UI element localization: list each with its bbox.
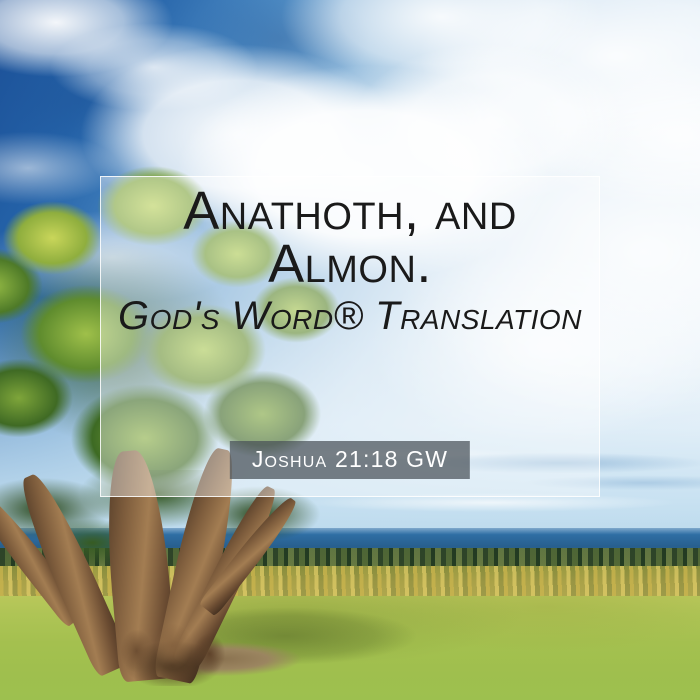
verse-reference-badge: Joshua 21:18 GW <box>230 441 470 479</box>
translation-name: God's Word® Translation <box>101 293 599 340</box>
tree-root-mass <box>108 616 238 686</box>
verse-overlay-panel: Anathoth, and Almon. God's Word® Transla… <box>100 176 600 497</box>
verse-image-card: Anathoth, and Almon. God's Word® Transla… <box>0 0 700 700</box>
verse-text: Anathoth, and Almon. <box>101 185 599 291</box>
